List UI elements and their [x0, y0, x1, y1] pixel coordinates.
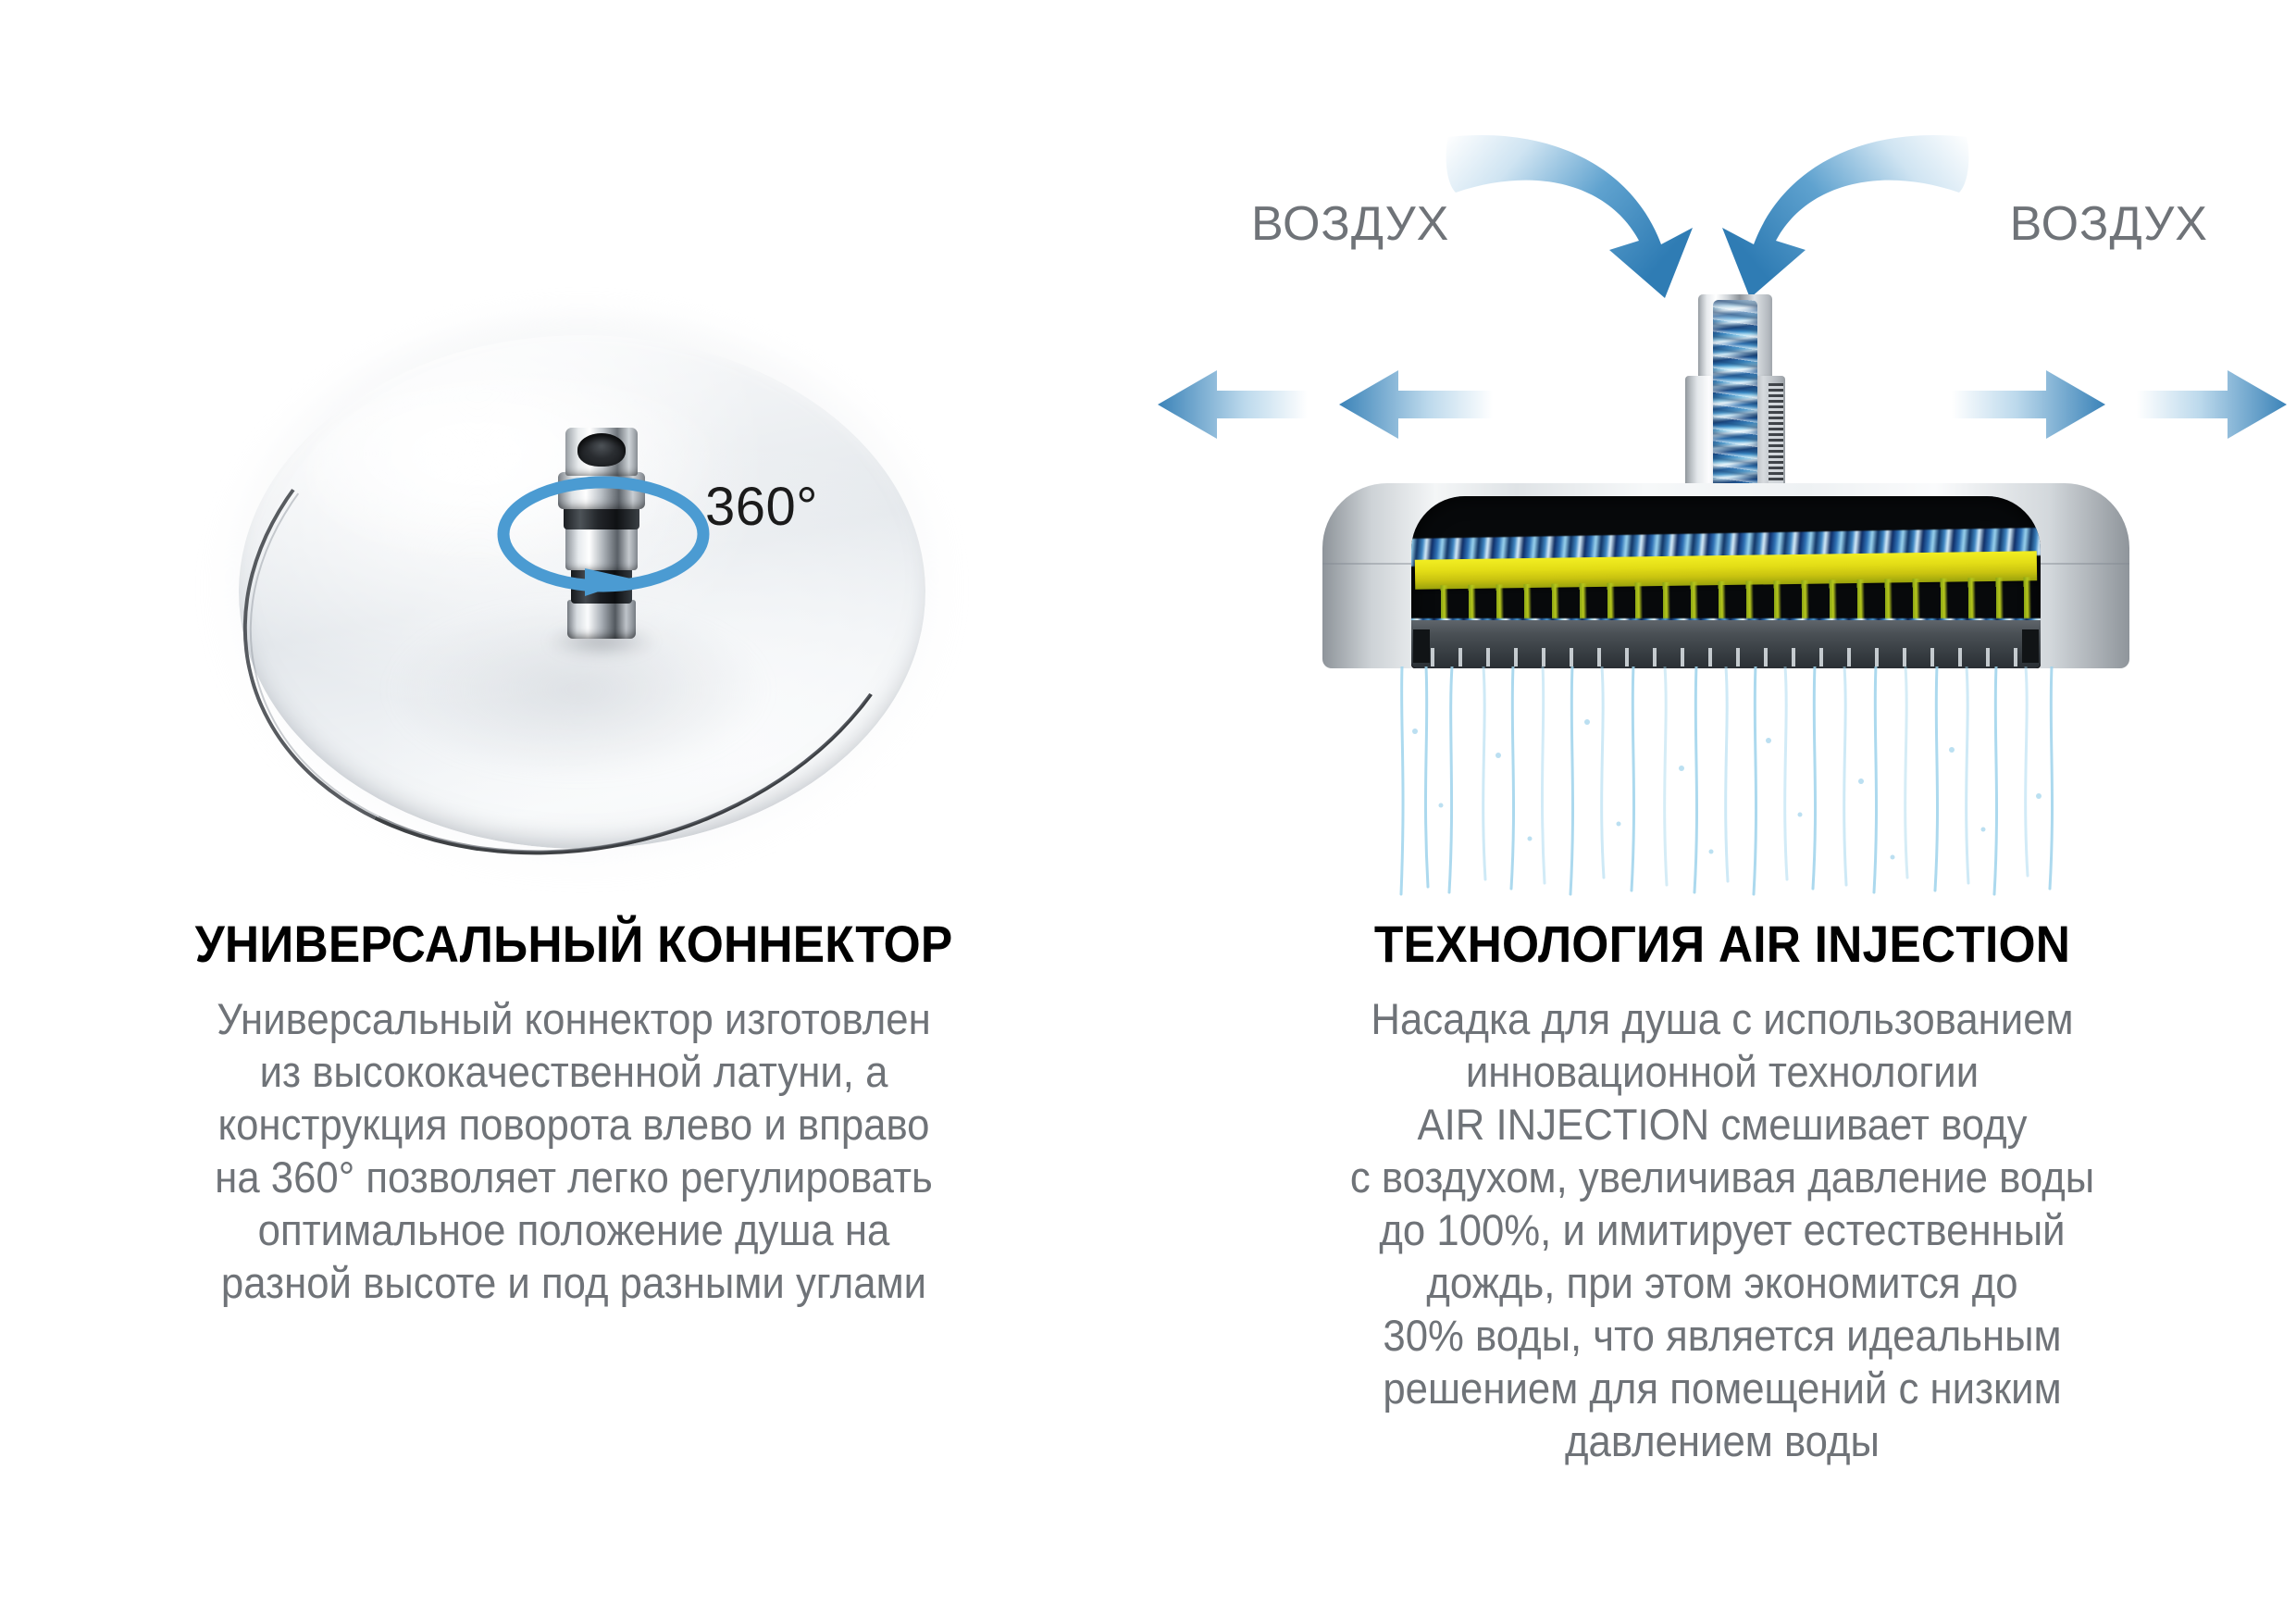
air-injection-illustration: ВОЗДУХ ВОЗДУХ: [1148, 0, 2296, 907]
panel-universal-connector: 360° УНИВЕРСАЛЬНЫЙ КОННЕКТОР Универсальн…: [0, 0, 1148, 1619]
shower-head-disc-illustration: 360°: [239, 335, 925, 849]
body-line: давлением воды: [1274, 1414, 2169, 1467]
faceplate-end-cap-right: [2022, 629, 2039, 663]
body-line: на 360° позволяет легко регулировать: [143, 1151, 1004, 1203]
infographic-page: 360° УНИВЕРСАЛЬНЫЙ КОННЕКТОР Универсальн…: [0, 0, 2296, 1619]
panel-air-injection: ВОЗДУХ ВОЗДУХ: [1148, 0, 2296, 1619]
body-line: AIR INJECTION смешивает воду: [1274, 1098, 2169, 1151]
connector-hex-nut: [567, 600, 636, 639]
water-spray-streams: [1387, 666, 2072, 898]
faceplate-nozzle-row: [1411, 648, 2041, 666]
connector-inlet-bore: [577, 433, 626, 467]
rotation-ring-arrow-icon: [496, 472, 711, 596]
text-block-air-injection: ТЕХНОЛОГИЯ AIR INJECTION Насадка для душ…: [1148, 918, 2296, 1467]
body-line: разной высоте и под разными углами: [143, 1256, 1004, 1309]
faceplate-end-cap-left: [1413, 629, 1430, 663]
body-line: 30% воды, что является идеальным: [1274, 1309, 2169, 1362]
curved-air-arrows-icon: [1367, 117, 2048, 302]
heading-universal-connector: УНИВЕРСАЛЬНЫЙ КОННЕКТОР: [46, 918, 1102, 970]
text-block-universal-connector: УНИВЕРСАЛЬНЫЙ КОННЕКТОР Универсальный ко…: [0, 918, 1148, 1309]
body-line: Насадка для душа с использованием: [1274, 992, 2169, 1045]
head-faceplate: [1411, 620, 2041, 668]
inlet-stem-with-water: [1680, 294, 1791, 507]
body-universal-connector: Универсальный коннектор изготовлен из вы…: [143, 992, 1004, 1309]
heading-air-injection: ТЕХНОЛОГИЯ AIR INJECTION: [1195, 918, 2251, 970]
swirling-water-column: [1713, 300, 1757, 502]
figure-air-injection: ВОЗДУХ ВОЗДУХ: [1148, 0, 2296, 907]
body-line: с воздухом, увеличивая давление воды: [1274, 1151, 2169, 1203]
shower-head-cutaway: [1322, 483, 2129, 668]
body-line: решением для помещений с низким: [1274, 1362, 2169, 1414]
body-line: конструкция поворота влево и вправо: [143, 1098, 1004, 1151]
figure-universal-connector: 360°: [0, 0, 1148, 907]
body-line: дождь, при этом экономится до: [1274, 1256, 2169, 1309]
rotation-degree-label: 360°: [705, 476, 818, 538]
body-line: из высококачественной латуни, а: [143, 1045, 1004, 1098]
body-line: оптимальное положение душа на: [143, 1203, 1004, 1256]
stem-thread-ridges: [1769, 383, 1783, 487]
body-line: до 100%, и имитирует естественный: [1274, 1203, 2169, 1256]
body-air-injection: Насадка для душа с использованием иннова…: [1274, 992, 2169, 1467]
body-line: Универсальный коннектор изготовлен: [143, 992, 1004, 1045]
body-line: инновационной технологии: [1274, 1045, 2169, 1098]
